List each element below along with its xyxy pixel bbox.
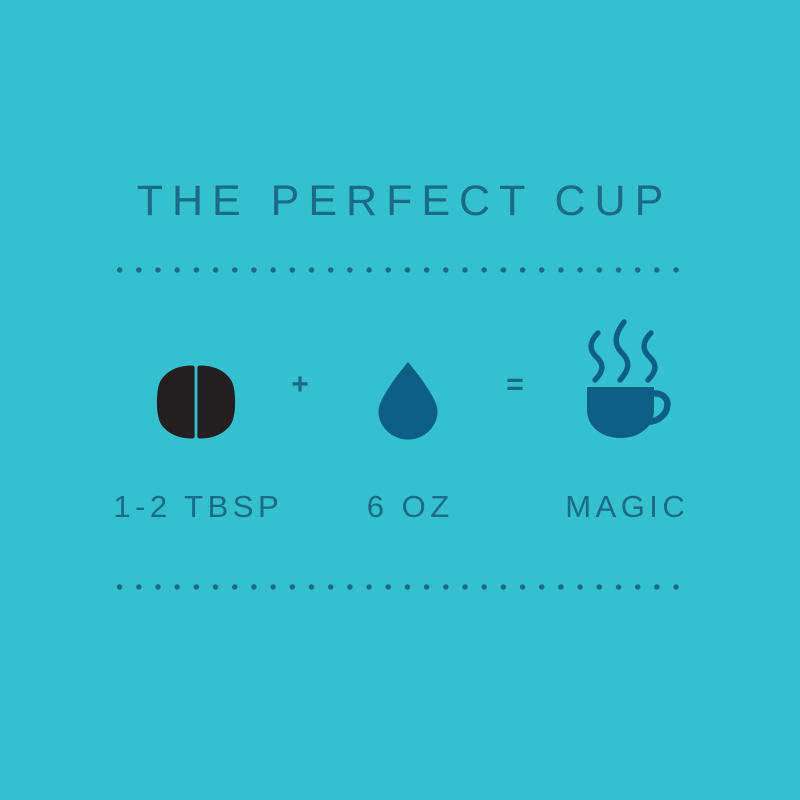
- equals-operator: =: [482, 370, 548, 400]
- coffee-cup-icon: [582, 314, 668, 440]
- page-title: THE PERFECT CUP: [0, 177, 800, 225]
- plus-operator: +: [266, 370, 334, 400]
- recipe-equation: + =: [0, 300, 800, 440]
- steam-line-right: [644, 333, 655, 380]
- steam-line-left: [591, 333, 602, 380]
- coffee-cup-slot: [548, 300, 702, 440]
- dotted-divider-top: [117, 267, 691, 273]
- perfect-cup-infographic: THE PERFECT CUP +: [0, 0, 800, 800]
- label-coffee-amount: 1-2 TBSP: [96, 487, 296, 527]
- coffee-bean-icon: [155, 364, 237, 440]
- coffee-bean-slot: [126, 300, 266, 440]
- steam-lines: [591, 322, 655, 380]
- dotted-divider-bottom: [117, 584, 691, 590]
- label-result: MAGIC: [535, 487, 715, 527]
- water-drop-icon: [377, 362, 439, 440]
- equation-labels: 1-2 TBSP 6 OZ MAGIC: [0, 487, 800, 531]
- water-drop-slot: [334, 300, 482, 440]
- cup-body: [587, 387, 654, 438]
- plus-operator-slot: +: [266, 300, 334, 440]
- label-water-amount: 6 OZ: [328, 487, 488, 527]
- steam-line-middle: [616, 322, 628, 380]
- equals-operator-slot: =: [482, 300, 548, 440]
